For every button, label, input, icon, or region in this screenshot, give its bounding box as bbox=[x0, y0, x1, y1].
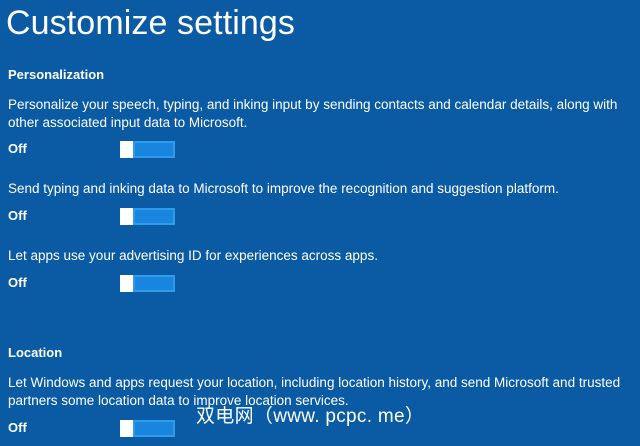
setting-toggle-row[interactable]: Off bbox=[8, 206, 308, 226]
toggle-track bbox=[133, 141, 175, 158]
toggle-state-label: Off bbox=[8, 206, 120, 226]
watermark: 双电网（www. pcpc. me） bbox=[196, 405, 424, 429]
toggle-knob bbox=[120, 141, 133, 158]
section-heading-location: Location bbox=[8, 345, 62, 360]
page-title: Customize settings bbox=[6, 0, 295, 46]
section-heading-personalization: Personalization bbox=[8, 67, 104, 82]
setting-description: Let apps use your advertising ID for exp… bbox=[8, 247, 640, 265]
customize-settings-screen: Customize settings Personalization Perso… bbox=[0, 0, 640, 446]
setting-toggle-row[interactable]: Off bbox=[8, 273, 308, 293]
toggle-knob bbox=[120, 420, 133, 437]
toggle-state-label: Off bbox=[8, 273, 120, 293]
toggle-knob bbox=[120, 208, 133, 225]
toggle-track bbox=[133, 275, 175, 292]
toggle-switch[interactable] bbox=[120, 275, 175, 292]
toggle-track bbox=[133, 420, 175, 437]
toggle-switch[interactable] bbox=[120, 208, 175, 225]
toggle-switch[interactable] bbox=[120, 420, 175, 437]
setting-description: Send typing and inking data to Microsoft… bbox=[8, 180, 640, 198]
setting-description: Personalize your speech, typing, and ink… bbox=[8, 96, 640, 132]
toggle-state-label: Off bbox=[8, 418, 120, 438]
setting-toggle-row[interactable]: Off bbox=[8, 139, 308, 159]
toggle-switch[interactable] bbox=[120, 141, 175, 158]
toggle-state-label: Off bbox=[8, 139, 120, 159]
toggle-knob bbox=[120, 275, 133, 292]
toggle-track bbox=[133, 208, 175, 225]
